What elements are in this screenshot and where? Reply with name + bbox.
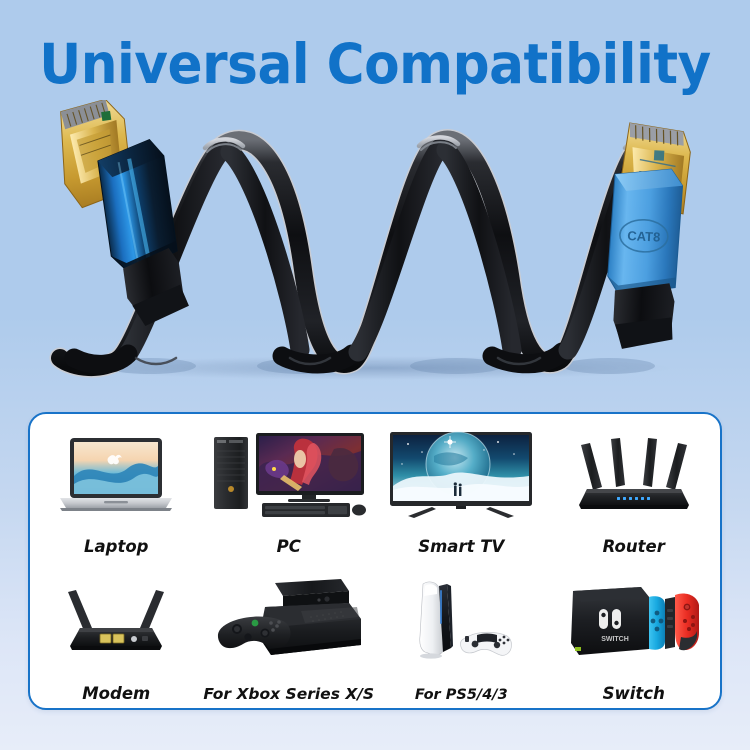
device-label: Switch: [603, 684, 665, 703]
cable-hero-graphic: CAT8: [0, 100, 750, 400]
device-label: For PS5/4/3: [415, 686, 508, 703]
device-switch: SWITCH: [548, 561, 721, 708]
device-pc: PC: [203, 414, 376, 561]
device-label: Laptop: [84, 537, 149, 556]
cat8-badge-text: CAT8: [627, 228, 661, 245]
laptop-icon: [30, 414, 203, 537]
device-label: Smart TV: [418, 537, 504, 556]
cable-shadow: [75, 356, 675, 380]
modem-icon: [30, 561, 203, 684]
device-label: PC: [277, 537, 301, 556]
device-playstation: For PS5/4/3: [375, 561, 548, 708]
device-label: Router: [603, 537, 665, 556]
device-laptop: Laptop: [30, 414, 203, 561]
compatibility-row-2: Modem: [30, 561, 720, 708]
device-router: Router: [548, 414, 721, 561]
page-title: Universal Compatibility: [23, 36, 728, 94]
right-rj45-connector: CAT8: [604, 122, 692, 352]
marketing-image-stage: Universal Compatibility: [0, 0, 750, 750]
wifi-router-icon: [548, 414, 721, 537]
svg-text:SWITCH: SWITCH: [601, 636, 629, 643]
strain-relief-right: [612, 280, 675, 351]
connector-housing-right: CAT8: [607, 166, 684, 297]
television-icon: [375, 414, 548, 537]
compatibility-panel: Laptop: [28, 412, 722, 710]
device-smart-tv: Smart TV: [375, 414, 548, 561]
nintendo-switch-icon: SWITCH: [548, 561, 721, 684]
device-label: For Xbox Series X/S: [203, 685, 374, 703]
device-label: Modem: [82, 684, 150, 703]
left-rj45-connector: [54, 100, 191, 334]
compatibility-row-1: Laptop: [30, 414, 720, 561]
desktop-computer-icon: [203, 414, 376, 537]
device-modem: Modem: [30, 561, 203, 708]
xbox-console-icon: [203, 561, 376, 685]
playstation-console-icon: [375, 561, 548, 686]
device-xbox: For Xbox Series X/S: [203, 561, 376, 708]
